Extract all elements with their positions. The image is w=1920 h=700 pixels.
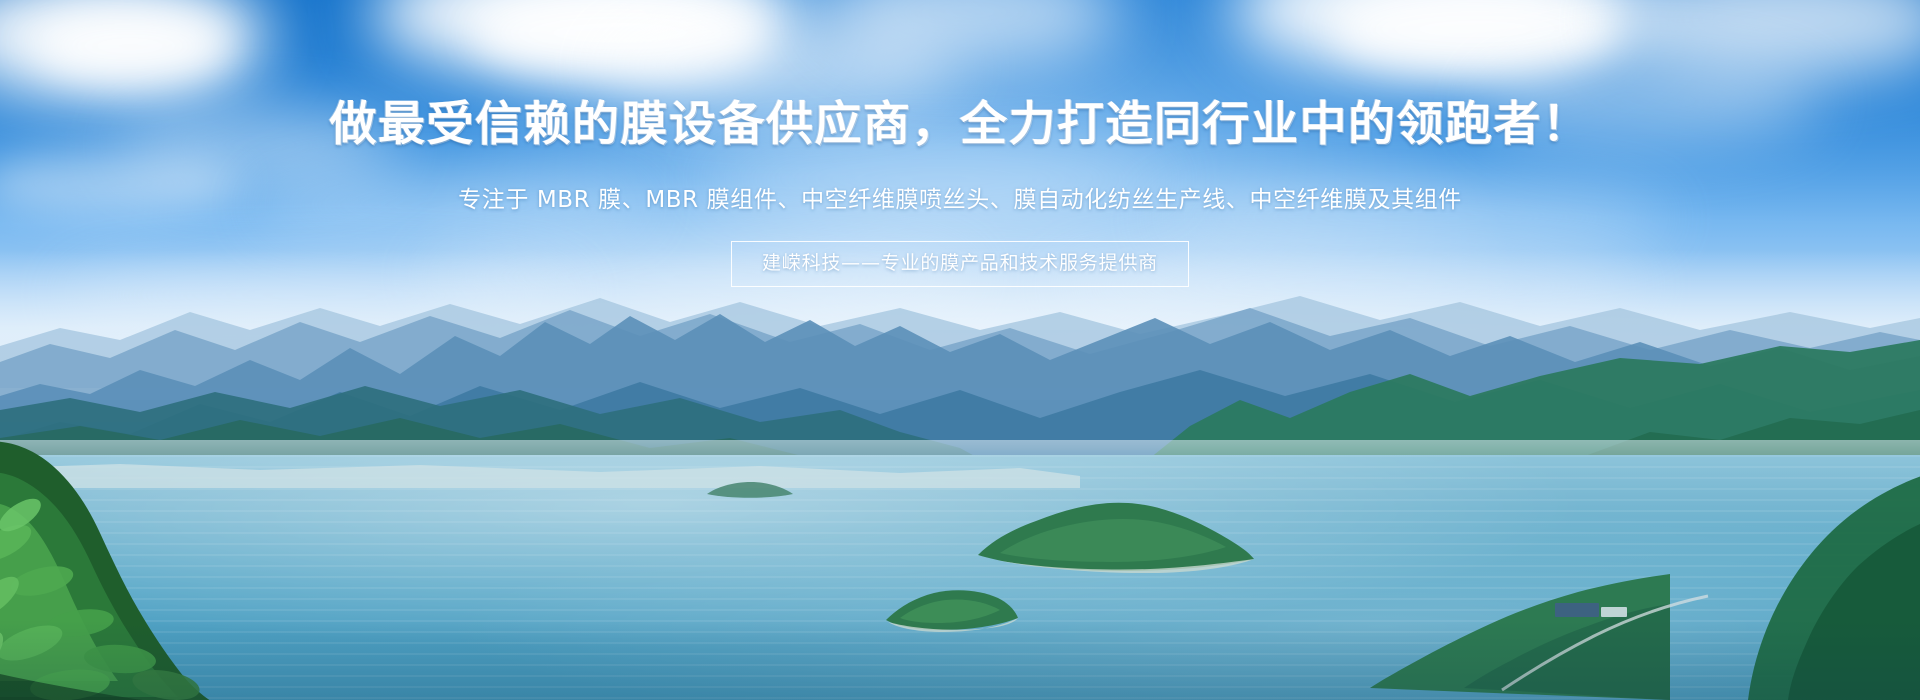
bottom-vignette [0,620,1920,700]
page-title: 做最受信赖的膜设备供应商，全力打造同行业中的领跑者！ [0,99,1920,151]
hero-text-block: 做最受信赖的膜设备供应商，全力打造同行业中的领跑者！ 专注于 MBR 膜、MBR… [0,0,1920,320]
island-large [970,493,1260,573]
tagline-box: 建嵘科技——专业的膜产品和技术服务提供商 [731,241,1189,287]
hero-banner: 做最受信赖的膜设备供应商，全力打造同行业中的领跑者！ 专注于 MBR 膜、MBR… [0,0,1920,700]
tagline-wrapper: 建嵘科技——专业的膜产品和技术服务提供商 [0,241,1920,287]
page-subtitle: 专注于 MBR 膜、MBR 膜组件、中空纤维膜喷丝头、膜自动化纺丝生产线、中空纤… [0,185,1920,215]
island-far-left [705,478,795,500]
